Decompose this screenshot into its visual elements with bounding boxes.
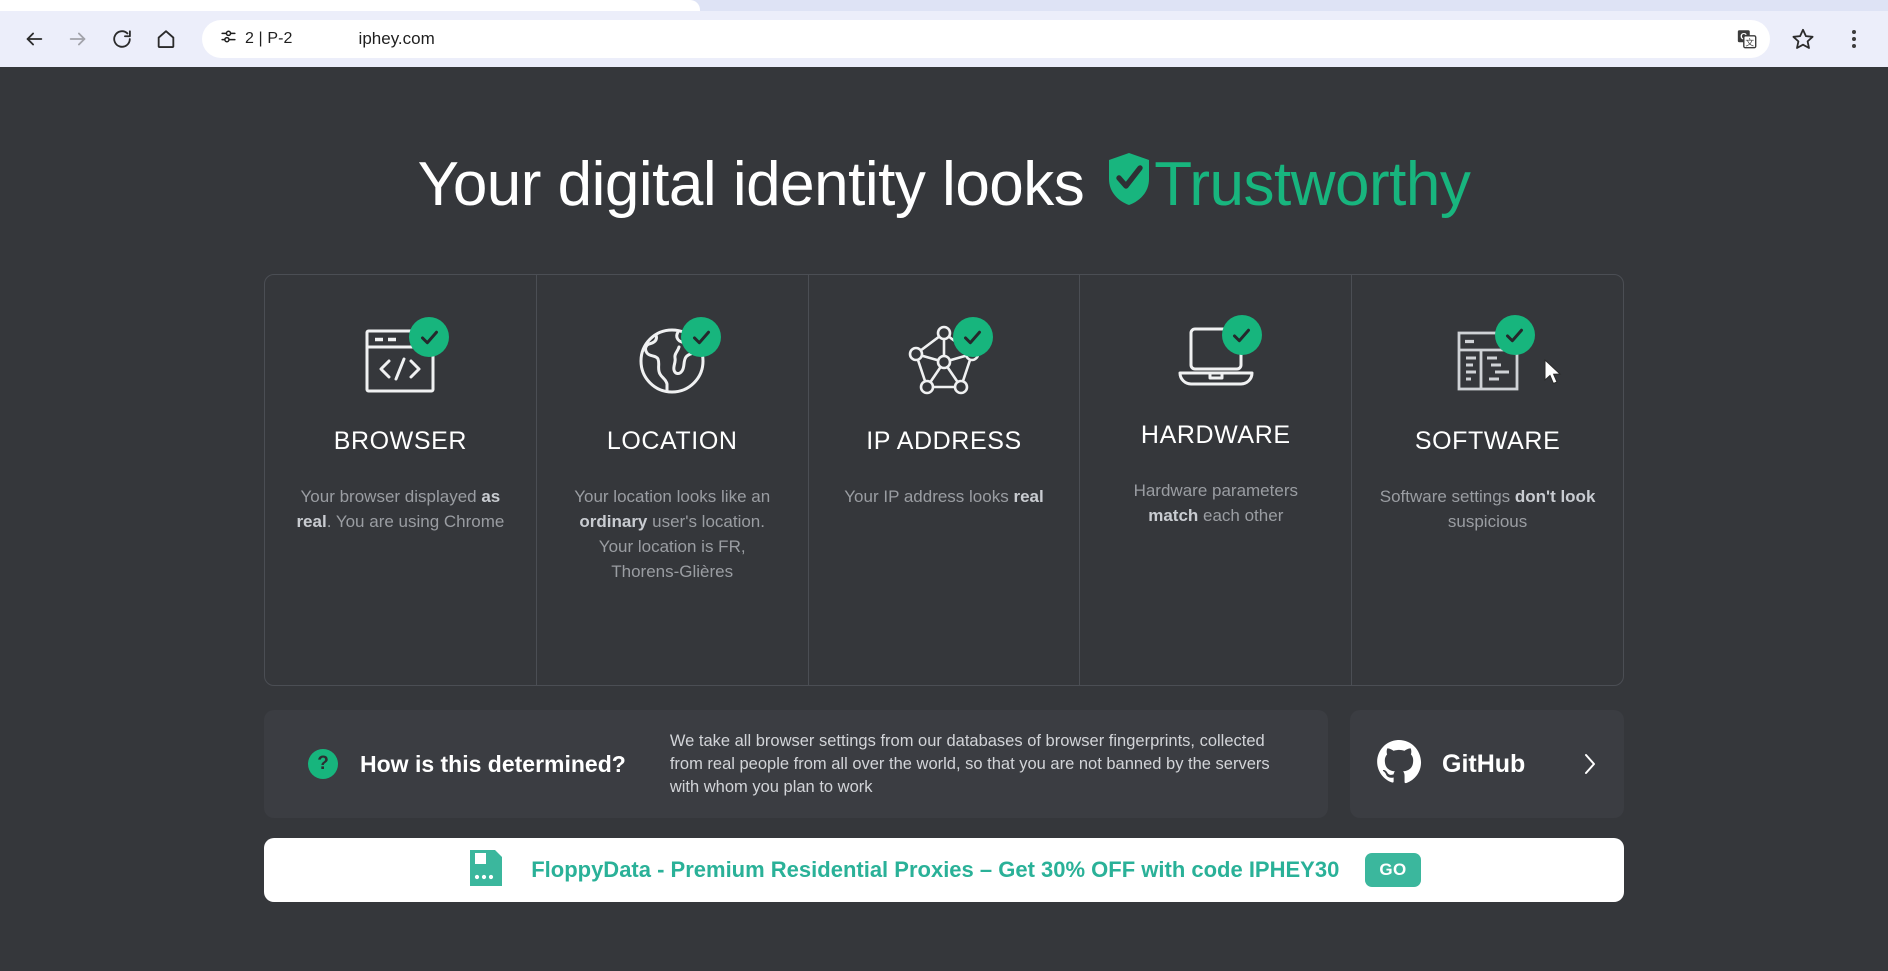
how-determined-panel: ? How is this determined? We take all br… [264,710,1328,818]
card-title: HARDWARE [1141,421,1291,450]
tab-strip[interactable] [0,0,1888,11]
menu-dot [1852,44,1856,48]
how-determined-body: We take all browser settings from our da… [670,730,1284,799]
page-viewport: Your digital identity looks Trustworthy [0,67,1888,971]
home-button[interactable] [146,19,186,59]
reload-button[interactable] [102,19,142,59]
svg-text:文: 文 [1745,36,1754,47]
status-card-hardware[interactable]: HARDWARE Hardware parameters match each … [1080,275,1352,685]
card-title: IP ADDRESS [866,427,1022,456]
floppy-disk-icon [467,847,505,894]
translate-button[interactable]: G 文 [1730,22,1764,56]
menu-dot [1852,37,1856,41]
active-tab[interactable] [0,0,700,11]
card-icon-wrap [359,321,441,417]
status-cards: BROWSER Your browser displayed as real. … [264,274,1624,686]
card-icon-wrap [903,321,985,417]
browser-menu-button[interactable] [1834,19,1874,59]
status-card-location[interactable]: LOCATION Your location looks like an ord… [537,275,809,685]
card-description: Hardware parameters match each other [1080,478,1351,528]
card-icon-wrap [631,321,713,417]
check-circle-icon [1222,315,1262,355]
menu-dot [1852,30,1856,34]
how-determined-title: How is this determined? [360,751,626,778]
card-description: Your IP address looks real [818,484,1069,509]
browser-toolbar: 2 | P-2 iphey.com G 文 [0,11,1888,67]
address-bar[interactable]: 2 | P-2 iphey.com G 文 [202,20,1770,58]
status-card-ip-address[interactable]: IP ADDRESS Your IP address looks real [809,275,1081,685]
promo-banner[interactable]: FloppyData - Premium Residential Proxies… [264,838,1624,902]
check-circle-icon [409,317,449,357]
card-title: LOCATION [607,427,738,456]
check-circle-icon [681,317,721,357]
bookmark-button[interactable] [1786,22,1820,56]
github-icon [1376,739,1422,790]
card-description: Your browser displayed as real. You are … [265,484,536,534]
promo-text: FloppyData - Premium Residential Proxies… [531,857,1339,883]
card-description: Your location looks like an ordinary use… [537,484,808,584]
shield-check-icon [1106,151,1152,218]
page-title-prefix: Your digital identity looks [418,154,1085,216]
github-label: GitHub [1442,750,1562,779]
promo-go-button[interactable]: GO [1365,853,1420,887]
page-title-verdict: Trustworthy [1154,154,1470,216]
card-icon-wrap [1447,321,1529,417]
status-card-software[interactable]: SOFTWARE Software settings don't look su… [1352,275,1623,685]
forward-button[interactable] [58,19,98,59]
check-circle-icon [1495,315,1535,355]
card-description: Software settings don't look suspicious [1352,484,1623,534]
url-text[interactable]: iphey.com [359,29,1730,49]
github-link-card[interactable]: GitHub [1350,710,1624,818]
card-icon-wrap [1172,321,1260,411]
chevron-right-icon [1582,751,1598,777]
page-title: Your digital identity looks Trustworthy [264,151,1624,218]
permission-chip-label: 2 | P-2 [245,30,293,48]
card-title: SOFTWARE [1415,427,1561,456]
tune-sliders-icon [219,27,238,51]
card-title: BROWSER [334,427,467,456]
page-content: Your digital identity looks Trustworthy [264,67,1624,902]
permission-chip[interactable]: 2 | P-2 [208,24,307,54]
status-card-browser[interactable]: BROWSER Your browser displayed as real. … [265,275,537,685]
info-row: ? How is this determined? We take all br… [264,710,1624,818]
back-button[interactable] [14,19,54,59]
check-circle-icon [953,317,993,357]
question-mark-icon: ? [308,749,338,779]
